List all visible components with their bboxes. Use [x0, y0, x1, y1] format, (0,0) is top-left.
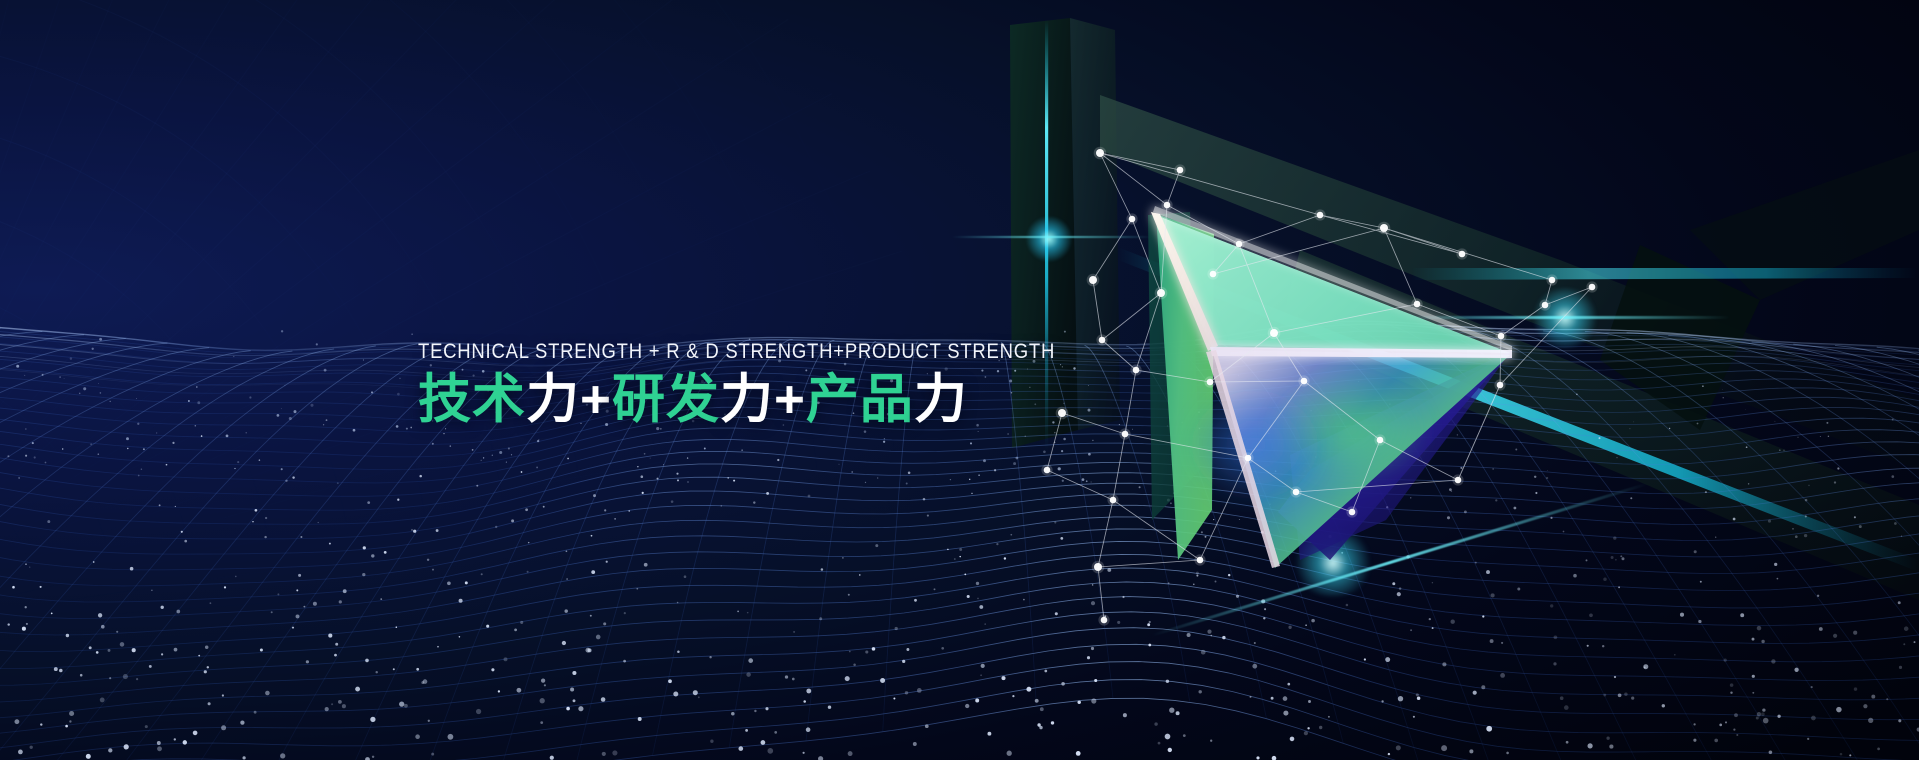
headline-segment-7: 力 [914, 370, 968, 429]
headline-segment-4: 力 [720, 370, 774, 429]
lens-flare-bottom [1290, 530, 1376, 596]
eyebrow-text: TECHNICAL STRENGTH + R & D STRENGTH+PROD… [418, 340, 1055, 363]
glow-beam-bottom [1151, 482, 1649, 637]
headline-segment-0: 技术 [418, 370, 526, 429]
headline-segment-5: + [774, 370, 806, 429]
hero-banner: TECHNICAL STRENGTH + R & D STRENGTH+PROD… [0, 0, 1919, 760]
glow-beam-left [952, 236, 1152, 238]
headline-segment-2: + [580, 370, 612, 429]
glow-beam-right [1400, 316, 1730, 319]
hero-copy-block: TECHNICAL STRENGTH + R & D STRENGTH+PROD… [418, 340, 1159, 430]
headline-segment-3: 研发 [612, 370, 720, 429]
headline-segment-6: 产品 [806, 370, 914, 429]
headline-text: 技术力+研发力+产品力 [418, 369, 1159, 430]
lens-flare-left [1026, 216, 1072, 262]
lens-flare-right [1530, 288, 1600, 348]
headline-segment-1: 力 [526, 370, 580, 429]
